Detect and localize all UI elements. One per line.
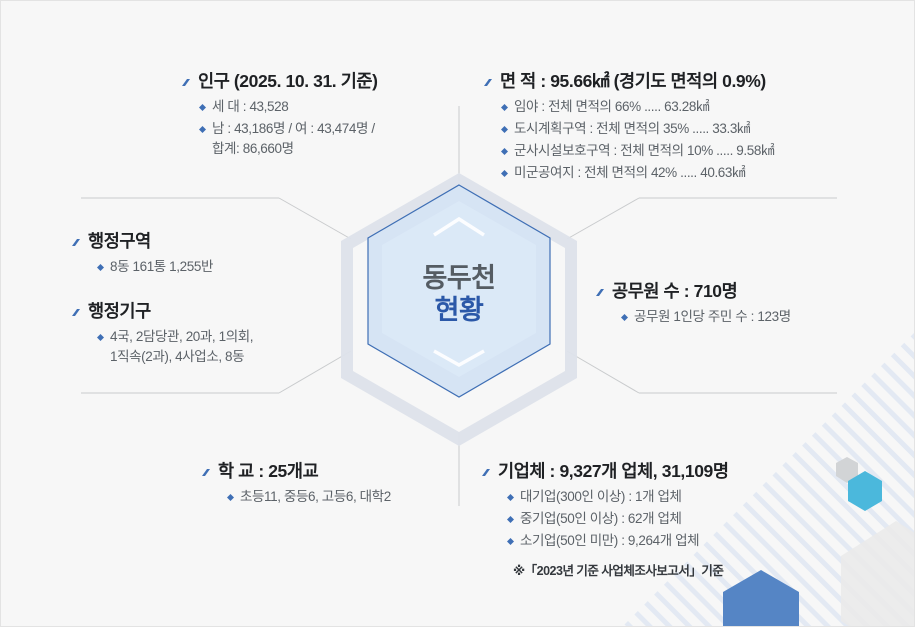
bullet-diamond-icon (227, 494, 234, 501)
bullet-diamond-icon (97, 334, 104, 341)
organization-list: 4국, 2담당관, 20과, 1의회, 1직속(2과), 4사업소, 8동 (69, 327, 253, 367)
heading-marker-icon (481, 77, 493, 89)
bullet-diamond-icon (621, 314, 628, 321)
bullet-diamond-icon (501, 104, 508, 111)
list-item-continuation: 합계: 86,660명 (199, 139, 378, 159)
companies-item-2: 소기업(50인 미만) : 9,264개 업체 (520, 531, 699, 551)
center-title-line1: 동두천 (422, 263, 495, 295)
deco-hexagon-gray (836, 457, 858, 483)
companies-footnote: ※「2023년 기준 사업체조사보고서」기준 (479, 560, 729, 579)
area-item-1: 도시계획구역 : 전체 면적의 35% ..... 33.3㎢ (514, 119, 750, 139)
district-item-0: 8동 161통 1,255반 (110, 257, 213, 277)
district-heading-row: 행정구역 (69, 229, 213, 254)
bullet-spacer (199, 146, 206, 153)
schools-item-0: 초등11, 중등6, 고등6, 대학2 (240, 487, 391, 507)
block-organization: 행정기구 4국, 2담당관, 20과, 1의회, 1직속(2과), 4사업소, … (69, 299, 253, 367)
organization-item-1: 1직속(2과), 4사업소, 8동 (110, 347, 244, 367)
companies-item-0: 대기업(300인 이상) : 1개 업체 (520, 487, 682, 507)
heading-marker-icon (69, 307, 81, 319)
organization-item-0: 4국, 2담당관, 20과, 1의회, (110, 327, 253, 347)
district-list: 8동 161통 1,255반 (69, 257, 213, 277)
officials-heading: 공무원 수 : 710명 (612, 279, 737, 304)
block-area: 면 적 : 95.66㎢ (경기도 면적의 0.9%) 임야 : 전체 면적의 … (481, 69, 774, 183)
schools-heading: 학 교 : 25개교 (218, 459, 318, 484)
list-item: 4국, 2담당관, 20과, 1의회, (97, 327, 253, 347)
organization-heading-row: 행정기구 (69, 299, 253, 324)
area-heading: 면 적 : 95.66㎢ (경기도 면적의 0.9%) (500, 69, 766, 94)
center-title-line2: 현황 (435, 295, 484, 327)
list-item: 도시계획구역 : 전체 면적의 35% ..... 33.3㎢ (501, 119, 774, 139)
bullet-diamond-icon (199, 126, 206, 133)
officials-item-0: 공무원 1인당 주민 수 : 123명 (634, 307, 791, 327)
list-item: 임야 : 전체 면적의 66% ..... 63.28㎢ (501, 97, 774, 117)
list-item: 8동 161통 1,255반 (97, 257, 213, 277)
bullet-spacer (97, 354, 104, 361)
officials-list: 공무원 1인당 주민 수 : 123명 (593, 307, 791, 327)
bullet-diamond-icon (97, 264, 104, 271)
bullet-diamond-icon (501, 148, 508, 155)
bullet-diamond-icon (501, 126, 508, 133)
list-item: 군사시설보호구역 : 전체 면적의 10% ..... 9.58㎢ (501, 141, 774, 161)
list-item: 초등11, 중등6, 고등6, 대학2 (227, 487, 391, 507)
companies-heading: 기업체 : 9,327개 업체, 31,109명 (498, 459, 729, 484)
block-district: 행정구역 8동 161통 1,255반 (69, 229, 213, 277)
heading-marker-icon (179, 77, 191, 89)
center-hexagon: 동두천 현황 (358, 179, 560, 411)
list-item: 소기업(50인 미만) : 9,264개 업체 (507, 531, 729, 551)
center-hexagon-label: 동두천 현황 (358, 179, 560, 411)
district-heading: 행정구역 (88, 229, 151, 254)
heading-marker-icon (199, 467, 211, 479)
block-population: 인구 (2025. 10. 31. 기준) 세 대 : 43,528 남 : 4… (179, 69, 378, 159)
population-heading-row: 인구 (2025. 10. 31. 기준) (179, 69, 378, 94)
companies-list: 대기업(300인 이상) : 1개 업체 중기업(50인 이상) : 62개 업… (479, 487, 729, 551)
list-item: 중기업(50인 이상) : 62개 업체 (507, 509, 729, 529)
area-heading-row: 면 적 : 95.66㎢ (경기도 면적의 0.9%) (481, 69, 774, 94)
population-item-0: 세 대 : 43,528 (212, 97, 288, 117)
population-item-1: 남 : 43,186명 / 여 : 43,474명 / (212, 119, 375, 139)
block-officials: 공무원 수 : 710명 공무원 1인당 주민 수 : 123명 (593, 279, 791, 327)
heading-marker-icon (593, 287, 605, 299)
area-item-0: 임야 : 전체 면적의 66% ..... 63.28㎢ (514, 97, 709, 117)
bullet-diamond-icon (507, 516, 514, 523)
heading-marker-icon (69, 237, 81, 249)
infographic-panel: 동두천 현황 인구 (2025. 10. 31. 기준) 세 대 : 43,52… (0, 0, 915, 627)
population-heading: 인구 (2025. 10. 31. 기준) (198, 69, 378, 94)
bullet-diamond-icon (199, 104, 206, 111)
list-item: 남 : 43,186명 / 여 : 43,474명 / (199, 119, 378, 139)
block-schools: 학 교 : 25개교 초등11, 중등6, 고등6, 대학2 (199, 459, 391, 507)
area-list: 임야 : 전체 면적의 66% ..... 63.28㎢ 도시계획구역 : 전체… (481, 97, 774, 183)
list-item-continuation: 1직속(2과), 4사업소, 8동 (97, 347, 253, 367)
population-list: 세 대 : 43,528 남 : 43,186명 / 여 : 43,474명 /… (179, 97, 378, 159)
companies-heading-row: 기업체 : 9,327개 업체, 31,109명 (479, 459, 729, 484)
heading-marker-icon (479, 467, 491, 479)
organization-heading: 행정기구 (88, 299, 151, 324)
list-item: 대기업(300인 이상) : 1개 업체 (507, 487, 729, 507)
companies-item-1: 중기업(50인 이상) : 62개 업체 (520, 509, 682, 529)
schools-heading-row: 학 교 : 25개교 (199, 459, 391, 484)
list-item: 공무원 1인당 주민 수 : 123명 (621, 307, 791, 327)
bullet-diamond-icon (501, 170, 508, 177)
bullet-diamond-icon (507, 538, 514, 545)
bullet-diamond-icon (507, 494, 514, 501)
area-item-2: 군사시설보호구역 : 전체 면적의 10% ..... 9.58㎢ (514, 141, 774, 161)
list-item: 미군공여지 : 전체 면적의 42% ..... 40.63㎢ (501, 163, 774, 183)
list-item: 세 대 : 43,528 (199, 97, 378, 117)
area-item-3: 미군공여지 : 전체 면적의 42% ..... 40.63㎢ (514, 163, 745, 183)
deco-hexagon-cyan (848, 471, 882, 511)
officials-heading-row: 공무원 수 : 710명 (593, 279, 791, 304)
deco-hexagon-blue (723, 570, 799, 627)
schools-list: 초등11, 중등6, 고등6, 대학2 (199, 487, 391, 507)
population-item-2: 합계: 86,660명 (212, 139, 294, 159)
block-companies: 기업체 : 9,327개 업체, 31,109명 대기업(300인 이상) : … (479, 459, 729, 579)
gray-blob-decoration (841, 521, 915, 627)
